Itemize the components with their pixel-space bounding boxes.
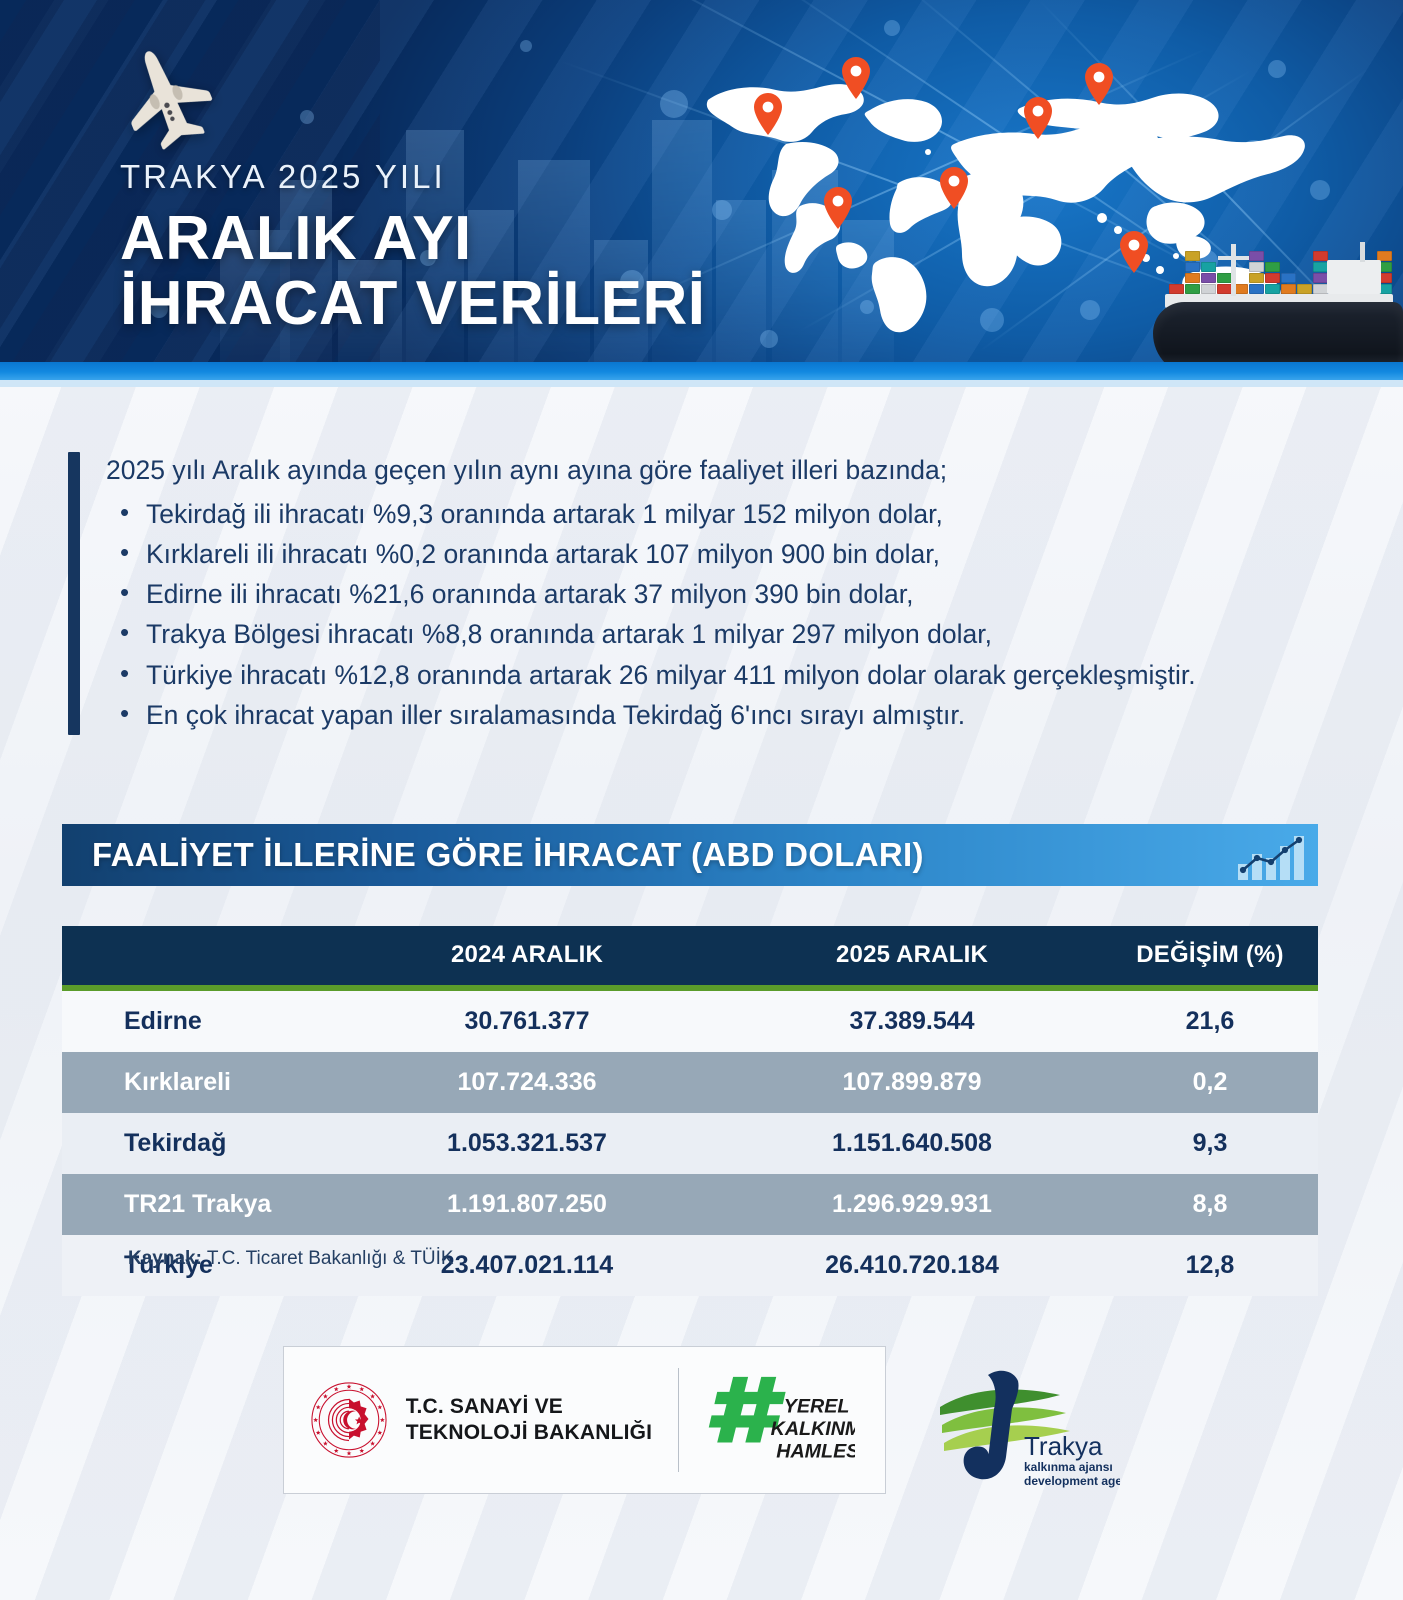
- map-pin-icon: [840, 56, 872, 100]
- campaign-line-1: YEREL: [784, 1396, 850, 1418]
- cell-y2025: 1.151.640.508: [722, 1113, 1102, 1174]
- footer-logos: T.C. SANAYİ VE TEKNOLOJİ BAKANLIĞI YEREL…: [0, 1330, 1403, 1510]
- shipping-container: [1265, 273, 1280, 283]
- intro-lead-text: 2025 yılı Aralık ayında geçen yılın aynı…: [106, 452, 1248, 490]
- cell-name: Tekirdağ: [62, 1113, 332, 1174]
- shipping-container: [1185, 273, 1200, 283]
- table-row: Kırklareli107.724.336107.899.8790,2: [62, 1052, 1318, 1113]
- shipping-container: [1265, 262, 1280, 272]
- shipping-container: [1281, 273, 1296, 283]
- table-row: Tekirdağ1.053.321.5371.151.640.5089,3: [62, 1113, 1318, 1174]
- column-header-region: [62, 926, 332, 988]
- shipping-container: [1313, 284, 1328, 294]
- cell-y2025: 37.389.544: [722, 988, 1102, 1052]
- section-header-bar: FAALİYET İLLERİNE GÖRE İHRACAT (ABD DOLA…: [62, 824, 1318, 886]
- source-label: Kaynak:: [128, 1248, 202, 1269]
- cell-change: 12,8: [1102, 1235, 1318, 1296]
- intro-bullet-list: Tekirdağ ili ihracatı %9,3 oranında arta…: [106, 494, 1248, 736]
- intro-bullet-item: Trakya Bölgesi ihracatı %8,8 oranında ar…: [106, 614, 1248, 654]
- banner-accent-bar: [0, 362, 1403, 380]
- shipping-container: [1249, 284, 1264, 294]
- shipping-container: [1249, 273, 1264, 283]
- ministry-logo: T.C. SANAYİ VE TEKNOLOJİ BAKANLIĞI: [284, 1381, 678, 1459]
- banner-accent-underline: [0, 380, 1403, 387]
- shipping-container: [1201, 262, 1216, 272]
- banner-headline: ARALIK AYI İHRACAT VERİLERİ: [120, 207, 706, 335]
- campaign-logo: YEREL KALKINMA HAMLESİ: [679, 1371, 885, 1469]
- map-pin-icon: [1083, 62, 1115, 106]
- ministry-line-2: TEKNOLOJİ BAKANLIĞI: [406, 1420, 652, 1446]
- intro-bullet-item: Tekirdağ ili ihracatı %9,3 oranında arta…: [106, 494, 1248, 534]
- intro-bullet-item: En çok ihracat yapan iller sıralamasında…: [106, 695, 1248, 735]
- shipping-container: [1169, 284, 1184, 294]
- map-pin-icon: [752, 92, 784, 136]
- ministry-campaign-logo-box: T.C. SANAYİ VE TEKNOLOJİ BAKANLIĞI YEREL…: [283, 1346, 886, 1494]
- column-header-2025: 2025 ARALIK: [722, 926, 1102, 988]
- shipping-container: [1201, 284, 1216, 294]
- banner-kicker: TRAKYA 2025 YILI: [120, 160, 706, 193]
- tc-ministry-seal-icon: [310, 1381, 388, 1459]
- cell-y2024: 107.724.336: [332, 1052, 722, 1113]
- shipping-container: [1217, 273, 1232, 283]
- table-row: Edirne30.761.37737.389.54421,6: [62, 988, 1318, 1052]
- column-header-change: DEĞİŞİM (%): [1102, 926, 1318, 988]
- table-header-row: 2024 ARALIK 2025 ARALIK DEĞİŞİM (%): [62, 926, 1318, 988]
- cell-change: 21,6: [1102, 988, 1318, 1052]
- campaign-line-3: HAMLESİ: [776, 1440, 855, 1463]
- shipping-container: [1185, 251, 1200, 261]
- ministry-line-1: T.C. SANAYİ VE: [406, 1394, 652, 1420]
- column-header-2024: 2024 ARALIK: [332, 926, 722, 988]
- cell-y2024: 1.053.321.537: [332, 1113, 722, 1174]
- cell-name: TR21 Trakya: [62, 1174, 332, 1235]
- bar-chart-growth-icon: [1222, 824, 1318, 886]
- shipping-container: [1313, 251, 1328, 261]
- shipping-container: [1201, 273, 1216, 283]
- shipping-container: [1249, 262, 1264, 272]
- shipping-container: [1185, 284, 1200, 294]
- map-pin-icon: [822, 186, 854, 230]
- source-text: T.C. Ticaret Bakanlığı & TÜİK: [202, 1248, 454, 1269]
- export-data-table: 2024 ARALIK 2025 ARALIK DEĞİŞİM (%) Edir…: [62, 926, 1318, 1296]
- intro-block: 2025 yılı Aralık ayında geçen yılın aynı…: [68, 452, 1248, 735]
- cell-name: Kırklareli: [62, 1052, 332, 1113]
- shipping-container: [1281, 284, 1296, 294]
- intro-bullet-item: Türkiye ihracatı %12,8 oranında artarak …: [106, 655, 1248, 695]
- cell-y2025: 26.410.720.184: [722, 1235, 1102, 1296]
- cell-change: 0,2: [1102, 1052, 1318, 1113]
- headline-line-1: ARALIK AYI: [120, 204, 472, 273]
- banner-text-block: TRAKYA 2025 YILI ARALIK AYI İHRACAT VERİ…: [120, 160, 706, 335]
- cell-change: 8,8: [1102, 1174, 1318, 1235]
- shipping-container: [1185, 262, 1200, 272]
- cell-y2025: 107.899.879: [722, 1052, 1102, 1113]
- shipping-container: [1313, 262, 1328, 272]
- shipping-container: [1249, 251, 1264, 261]
- section-title: FAALİYET İLLERİNE GÖRE İHRACAT (ABD DOLA…: [92, 836, 924, 874]
- header-banner: TRAKYA 2025 YILI ARALIK AYI İHRACAT VERİ…: [0, 0, 1403, 380]
- table-row: TR21 Trakya1.191.807.2501.296.929.9318,8: [62, 1174, 1318, 1235]
- agency-name: Trakya: [1024, 1431, 1103, 1461]
- intro-accent-bar: [68, 452, 80, 735]
- map-pin-icon: [938, 166, 970, 210]
- shipping-container: [1265, 284, 1280, 294]
- agency-sub-1: kalkınma ajansı: [1024, 1460, 1113, 1474]
- map-pin-icon: [1022, 96, 1054, 140]
- campaign-line-2: KALKINMA: [771, 1418, 855, 1440]
- intro-bullet-item: Kırklareli ili ihracatı %0,2 oranında ar…: [106, 534, 1248, 574]
- agency-sub-2: development agency: [1024, 1474, 1120, 1488]
- cell-y2024: 1.191.807.250: [332, 1174, 722, 1235]
- ministry-name: T.C. SANAYİ VE TEKNOLOJİ BAKANLIĞI: [406, 1394, 652, 1447]
- trakya-agency-logo: Trakya kalkınma ajansı development agenc…: [920, 1345, 1120, 1495]
- cell-change: 9,3: [1102, 1113, 1318, 1174]
- headline-line-2: İHRACAT VERİLERİ: [120, 272, 706, 335]
- container-ship: [1135, 230, 1403, 380]
- shipping-container: [1297, 284, 1312, 294]
- source-note: Kaynak: T.C. Ticaret Bakanlığı & TÜİK: [128, 1248, 454, 1270]
- shipping-container: [1217, 284, 1232, 294]
- cell-name: Edirne: [62, 988, 332, 1052]
- intro-bullet-item: Edirne ili ihracatı %21,6 oranında artar…: [106, 574, 1248, 614]
- shipping-container: [1313, 273, 1328, 283]
- cell-y2024: 30.761.377: [332, 988, 722, 1052]
- cell-y2025: 1.296.929.931: [722, 1174, 1102, 1235]
